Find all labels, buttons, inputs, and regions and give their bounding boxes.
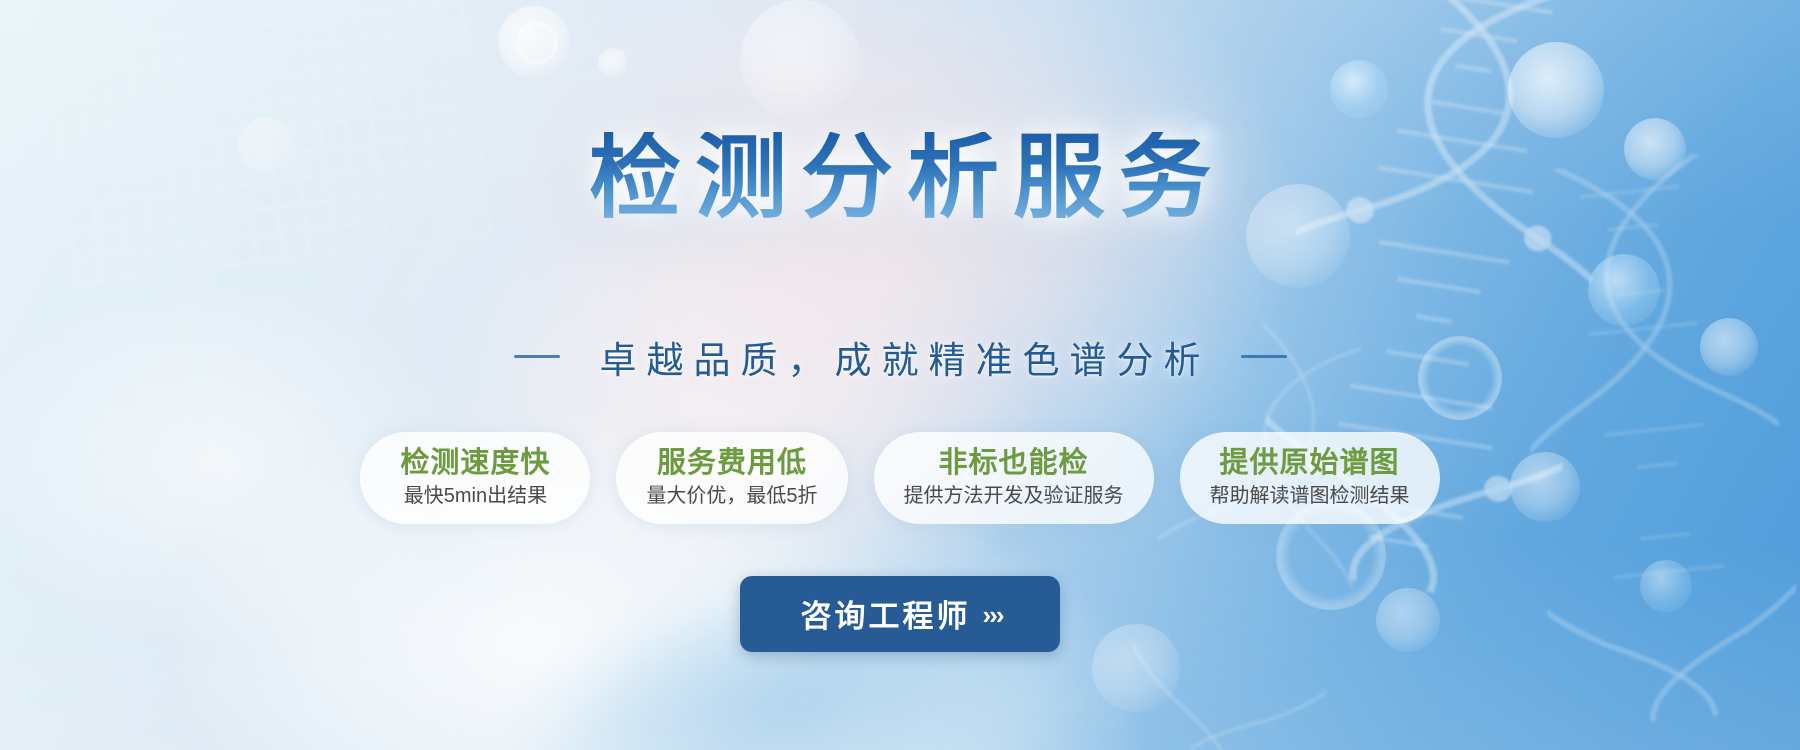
feature-pill-subtitle: 提供方法开发及验证服务: [904, 485, 1124, 508]
feature-pill-3: 非标也能检 提供方法开发及验证服务: [874, 432, 1154, 524]
feature-pill-title: 提供原始谱图: [1220, 447, 1400, 479]
feature-pill-4: 提供原始谱图 帮助解读谱图检测结果: [1180, 432, 1440, 524]
chevron-right-triple-icon: ›››: [983, 602, 1003, 628]
banner-content: 检测分析服务 卓越品质，成就精准色谱分析 检测速度快 最快5min出结果 服务费…: [0, 0, 1800, 750]
subtitle-row: 卓越品质，成就精准色谱分析: [514, 330, 1287, 384]
promo-banner: 检测分析服务 卓越品质，成就精准色谱分析 检测速度快 最快5min出结果 服务费…: [0, 0, 1800, 750]
page-subtitle: 卓越品质，成就精准色谱分析: [590, 330, 1211, 384]
feature-pill-title: 检测速度快: [400, 447, 550, 479]
feature-pill-title: 非标也能检: [939, 447, 1089, 479]
consult-engineer-button[interactable]: 咨询工程师 ›››: [740, 576, 1060, 652]
feature-pill-2: 服务费用低 量大价优，最低5折: [616, 432, 847, 524]
consult-engineer-label: 咨询工程师: [798, 591, 971, 636]
page-title: 检测分析服务: [575, 132, 1225, 224]
feature-pill-subtitle: 帮助解读谱图检测结果: [1210, 485, 1410, 508]
feature-pill-subtitle: 最快5min出结果: [404, 485, 547, 508]
feature-pill-title: 服务费用低: [657, 447, 807, 479]
subtitle-rule-left-icon: [514, 355, 560, 358]
feature-pill-subtitle: 量大价优，最低5折: [646, 485, 817, 508]
subtitle-rule-right-icon: [1241, 355, 1287, 358]
feature-pill-1: 检测速度快 最快5min出结果: [360, 432, 590, 524]
feature-pill-list: 检测速度快 最快5min出结果 服务费用低 量大价优，最低5折 非标也能检 提供…: [360, 432, 1439, 524]
